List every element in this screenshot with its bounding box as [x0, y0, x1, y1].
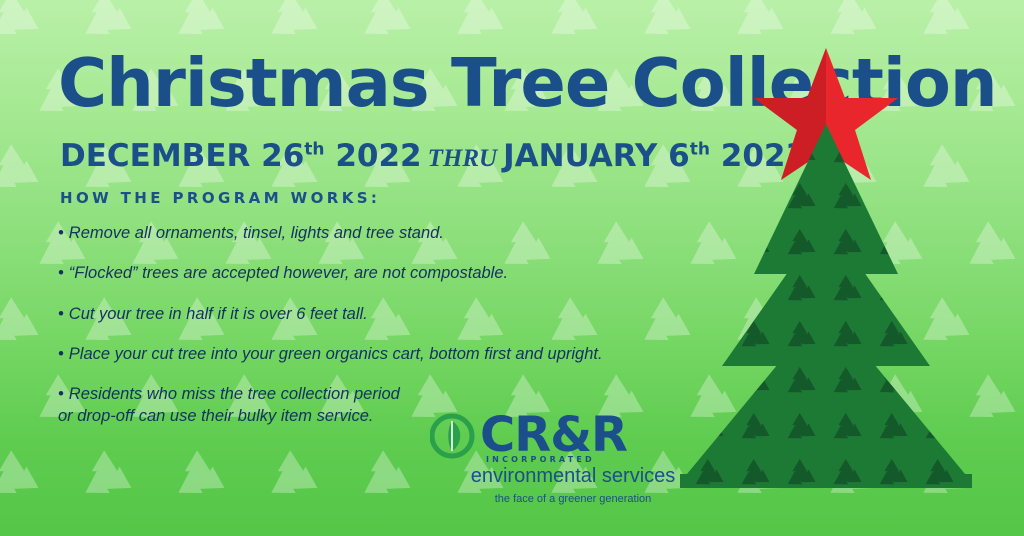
list-item: •Cut your tree in half if it is over 6 f… — [58, 303, 678, 325]
bullet-marker: • — [58, 224, 64, 242]
thru-label: THRU — [422, 145, 503, 172]
start-year: 2022 — [335, 138, 421, 174]
bullet-marker: • — [58, 345, 64, 363]
bullet-marker: • — [58, 305, 64, 323]
list-item: •Place your cut tree into your green org… — [58, 343, 678, 365]
list-item-text: Residents who miss the tree collection p… — [58, 385, 400, 425]
bullet-marker: • — [58, 385, 64, 403]
list-item-text: “Flocked” trees are accepted however, ar… — [69, 264, 508, 282]
list-item-text: Place your cut tree into your green orga… — [69, 345, 603, 363]
christmas-tree-collection-banner: Christmas Tree Collection DECEMBER 26th … — [0, 0, 1024, 536]
list-item: •“Flocked” trees are accepted however, a… — [58, 262, 678, 284]
list-item-text: Cut your tree in half if it is over 6 fe… — [69, 305, 368, 323]
tree-svg — [640, 38, 1000, 518]
logo-incorporated: INCORPORATED — [486, 455, 595, 464]
logo-tagline: the face of a greener generation — [468, 493, 678, 505]
start-date: DECEMBER 26 — [60, 138, 304, 174]
crr-logo: CR&R INCORPORATED environmental services… — [430, 405, 670, 515]
list-item-text: Remove all ornaments, tinsel, lights and… — [69, 224, 444, 242]
bullet-marker: • — [58, 264, 64, 282]
section-heading: HOW THE PROGRAM WORKS: — [60, 189, 380, 207]
christmas-tree-graphic — [640, 38, 1000, 518]
list-item: •Remove all ornaments, tinsel, lights an… — [58, 222, 678, 244]
logo-subtitle: environmental services — [468, 465, 678, 488]
leaf-circle-icon — [430, 411, 476, 461]
start-date-suffix: th — [304, 140, 324, 160]
